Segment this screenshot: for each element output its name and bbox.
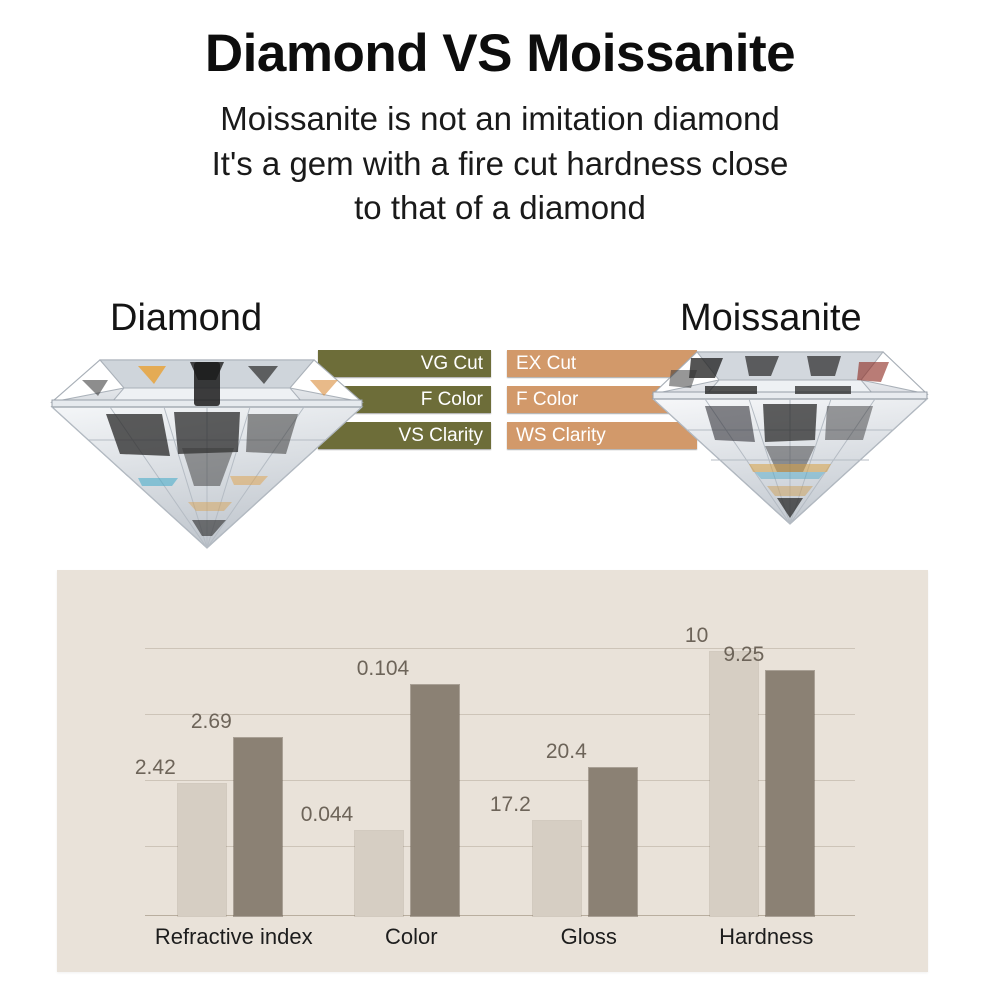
- bar-moissanite-gloss: [589, 768, 637, 916]
- subtitle-line-1: Moissanite is not an imitation diamond: [0, 97, 1000, 141]
- gem-comparison-stage: VG Cut F Color VS Clarity EX Cut F Color…: [0, 336, 1000, 568]
- category-label-hardness: Hardness: [678, 924, 856, 950]
- category-label-refractive-index: Refractive index: [145, 924, 323, 950]
- bar-diamond-refractive-index: [178, 784, 226, 916]
- bar-diamond-gloss: [533, 821, 581, 916]
- bar-moissanite-hardness: [766, 671, 814, 916]
- bar-value-diamond-color: 0.044: [273, 803, 353, 827]
- page-title: Diamond VS Moissanite: [0, 24, 1000, 83]
- bar-value-moissanite-gloss: 20.4: [507, 740, 587, 764]
- subtitle-line-2: It's a gem with a fire cut hardness clos…: [0, 142, 1000, 186]
- bar-moissanite-refractive-index: [234, 738, 282, 916]
- page-subtitle: Moissanite is not an imitation diamond I…: [0, 97, 1000, 230]
- page-header: Diamond VS Moissanite Moissanite is not …: [0, 24, 1000, 230]
- bar-value-moissanite-refractive-index: 2.69: [152, 710, 232, 734]
- bar-value-diamond-gloss: 17.2: [451, 793, 531, 817]
- subtitle-line-3: to that of a diamond: [0, 186, 1000, 230]
- chart-plot-area: 2.422.690.0440.10417.220.4109.25 Refract…: [145, 648, 855, 916]
- bar-diamond-hardness: [710, 652, 758, 916]
- bar-value-moissanite-color: 0.104: [329, 657, 409, 681]
- category-label-color: Color: [323, 924, 501, 950]
- diamond-heading: Diamond: [110, 297, 262, 340]
- comparison-chart-panel: 2.422.690.0440.10417.220.4109.25 Refract…: [57, 570, 928, 972]
- bar-value-moissanite-hardness: 9.25: [684, 643, 764, 667]
- category-label-gloss: Gloss: [500, 924, 678, 950]
- round-brilliant-moissanite-icon: [645, 336, 935, 526]
- bar-diamond-color: [355, 831, 403, 916]
- round-brilliant-diamond-icon: [42, 336, 372, 551]
- bar-value-diamond-refractive-index: 2.42: [96, 756, 176, 780]
- moissanite-heading: Moissanite: [680, 297, 862, 340]
